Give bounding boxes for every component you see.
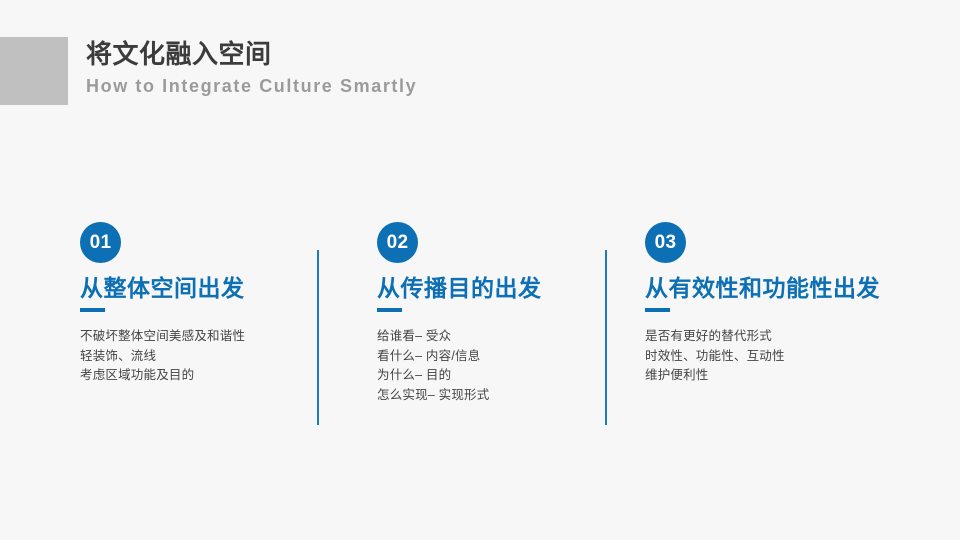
badge-number-02: 02 bbox=[377, 222, 418, 263]
column-body-03: 是否有更好的替代形式 时效性、功能性、互动性 维护便利性 bbox=[645, 327, 915, 386]
heading-underline-02 bbox=[377, 308, 402, 312]
column-divider-2 bbox=[605, 250, 607, 425]
body-line: 不破坏整体空间美感及和谐性 bbox=[80, 327, 350, 347]
heading-underline-03 bbox=[645, 308, 670, 312]
column-03: 03 从有效性和功能性出发 是否有更好的替代形式 时效性、功能性、互动性 维护便… bbox=[645, 222, 915, 386]
badge-number-01: 01 bbox=[80, 222, 121, 263]
body-line: 维护便利性 bbox=[645, 366, 915, 386]
body-line: 是否有更好的替代形式 bbox=[645, 327, 915, 347]
body-line: 轻装饰、流线 bbox=[80, 347, 350, 367]
columns-container: 01 从整体空间出发 不破坏整体空间美感及和谐性 轻装饰、流线 考虑区域功能及目… bbox=[0, 0, 960, 540]
column-heading-01: 从整体空间出发 bbox=[80, 274, 350, 302]
body-line: 时效性、功能性、互动性 bbox=[645, 347, 915, 367]
column-heading-03: 从有效性和功能性出发 bbox=[645, 274, 915, 302]
badge-number-03: 03 bbox=[645, 222, 686, 263]
column-01: 01 从整体空间出发 不破坏整体空间美感及和谐性 轻装饰、流线 考虑区域功能及目… bbox=[80, 222, 350, 386]
body-line: 考虑区域功能及目的 bbox=[80, 366, 350, 386]
column-divider-1 bbox=[317, 250, 319, 425]
column-body-01: 不破坏整体空间美感及和谐性 轻装饰、流线 考虑区域功能及目的 bbox=[80, 327, 350, 386]
slide-canvas: 将文化融入空间 How to Integrate Culture Smartly… bbox=[0, 0, 960, 540]
heading-underline-01 bbox=[80, 308, 105, 312]
